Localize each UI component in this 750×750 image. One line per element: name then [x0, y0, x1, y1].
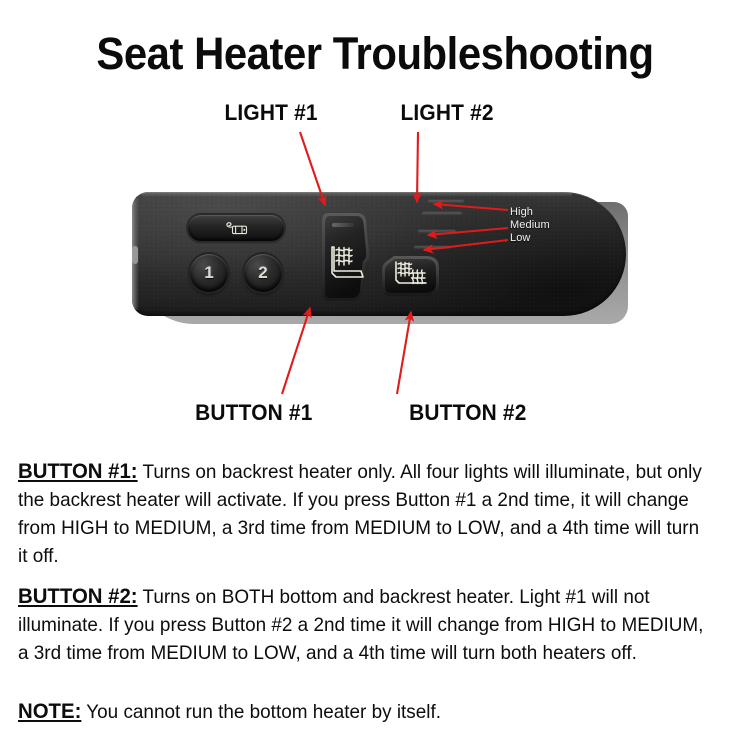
paragraph-button-1: BUTTON #1: Turns on backrest heater only… — [18, 458, 711, 570]
panel-left-notch — [132, 246, 138, 264]
callout-label-button-1: BUTTON #1 — [195, 400, 312, 426]
seat-backrest-heat-icon — [327, 243, 367, 287]
callout-label-button-2: BUTTON #2 — [409, 400, 526, 426]
paragraph-button-2: BUTTON #2: Turns on BOTH bottom and back… — [18, 583, 711, 667]
seat-heater-troubleshooting-infographic: Seat Heater Troubleshooting LIGHT #1 LIG… — [0, 0, 750, 750]
seat-full-heat-icon — [391, 259, 433, 293]
indicator-label-low: Low — [510, 232, 530, 244]
paragraph-button-1-lead: BUTTON #1: — [18, 460, 138, 483]
indicator-label-high: High — [510, 206, 533, 218]
paragraph-note-lead: NOTE: — [18, 700, 81, 723]
preset-button-1[interactable]: 1 — [190, 254, 228, 292]
memory-seat-button[interactable] — [188, 215, 284, 241]
panel-top-sheen — [142, 192, 572, 197]
callout-label-light-2: LIGHT #2 — [400, 100, 493, 126]
heater-button-1-sheen — [332, 223, 354, 227]
callout-label-light-1: LIGHT #1 — [224, 100, 317, 126]
panel-face: 1 2 — [132, 192, 626, 316]
heater-button-1[interactable] — [319, 209, 371, 305]
paragraph-note-text: You cannot run the bottom heater by itse… — [81, 701, 441, 723]
page-title: Seat Heater Troubleshooting — [26, 30, 724, 77]
preset-button-2[interactable]: 2 — [244, 254, 282, 292]
led-indicator-1 — [428, 200, 464, 203]
led-indicator-2-high — [422, 212, 462, 215]
led-indicator-4-low — [414, 246, 450, 249]
paragraph-button-2-lead: BUTTON #2: — [18, 585, 138, 608]
led-indicator-3-medium — [418, 230, 456, 233]
indicator-label-medium: Medium — [510, 219, 550, 231]
heater-button-2[interactable] — [380, 254, 442, 298]
paragraph-note: NOTE: You cannot run the bottom heater b… — [18, 698, 711, 726]
seat-heater-control-panel: 1 2 — [132, 192, 630, 326]
memory-seat-icon — [222, 221, 250, 236]
